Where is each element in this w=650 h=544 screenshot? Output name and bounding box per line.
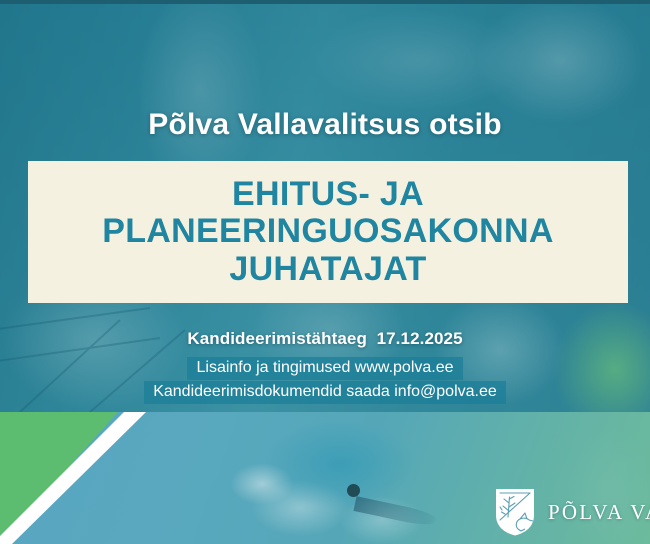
contact-row-email: Kandideerimisdokumendid saada info@polva… — [0, 381, 650, 404]
top-edge-strip — [0, 0, 650, 4]
job-advert-poster: Põlva Vallavalitsus otsib EHITUS- JA PLA… — [0, 0, 650, 544]
eyebrow-heading: Põlva Vallavalitsus otsib — [0, 108, 650, 142]
application-deadline: Kandideerimistähtaeg 17.12.2025 — [0, 329, 650, 349]
logo-wordmark: PÕLVA VALD — [548, 500, 650, 525]
polva-coat-of-arms-shield-icon — [494, 487, 536, 537]
job-title-line-2: PLANEERINGUOSAKONNA — [102, 213, 554, 250]
contact-line-email[interactable]: Kandideerimisdokumendid saada info@polva… — [144, 381, 506, 404]
job-title-line-1: EHITUS- JA — [102, 176, 554, 213]
green-diagonal-wedge — [0, 412, 160, 544]
contact-line-website[interactable]: Lisainfo ja tingimused www.polva.ee — [187, 357, 462, 380]
title-card: EHITUS- JA PLANEERINGUOSAKONNA JUHATAJAT — [28, 161, 628, 303]
job-title: EHITUS- JA PLANEERINGUOSAKONNA JUHATAJAT — [92, 176, 564, 288]
kingfisher-beak — [353, 496, 436, 528]
job-title-line-3: JUHATAJAT — [102, 251, 554, 288]
kingfisher-eye — [347, 484, 360, 497]
polva-vald-logo: PÕLVA VALD — [494, 487, 650, 537]
contact-information: Lisainfo ja tingimused www.polva.ee Kand… — [0, 357, 650, 404]
contact-row-website: Lisainfo ja tingimused www.polva.ee — [0, 357, 650, 380]
